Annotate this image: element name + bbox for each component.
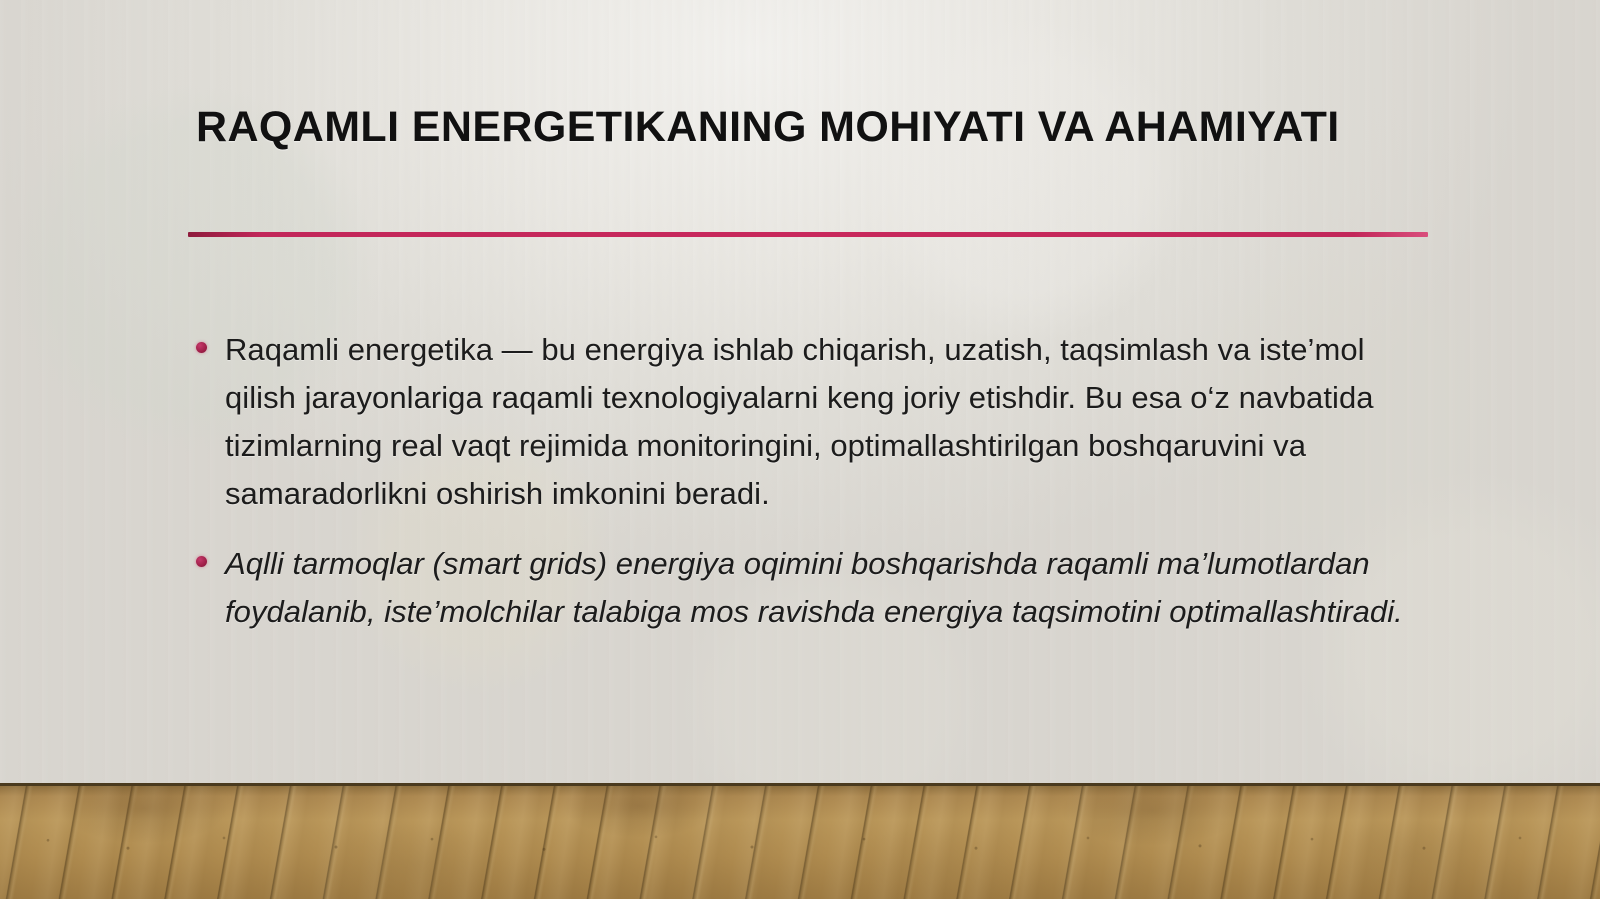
slide-body-content: Raqamli energetika — bu energiya ishlab … xyxy=(196,326,1436,658)
slide-title: Raqamli energetikaning mohiyati va ahami… xyxy=(196,100,1436,155)
bullet-dot-icon xyxy=(196,556,207,567)
bullet-text-secondary: Aqlli tarmoqlar (smart grids) energiya o… xyxy=(225,540,1436,636)
bullet-text-primary: Raqamli energetika — bu energiya ishlab … xyxy=(225,326,1436,518)
bullet-dot-icon xyxy=(196,342,207,353)
bullet-list-item: Aqlli tarmoqlar (smart grids) energiya o… xyxy=(196,540,1436,636)
presentation-slide: Raqamli energetikaning mohiyati va ahami… xyxy=(0,0,1600,899)
bullet-list-item: Raqamli energetika — bu energiya ishlab … xyxy=(196,326,1436,518)
title-accent-rule xyxy=(188,232,1428,237)
wooden-floor-decoration xyxy=(0,783,1600,899)
